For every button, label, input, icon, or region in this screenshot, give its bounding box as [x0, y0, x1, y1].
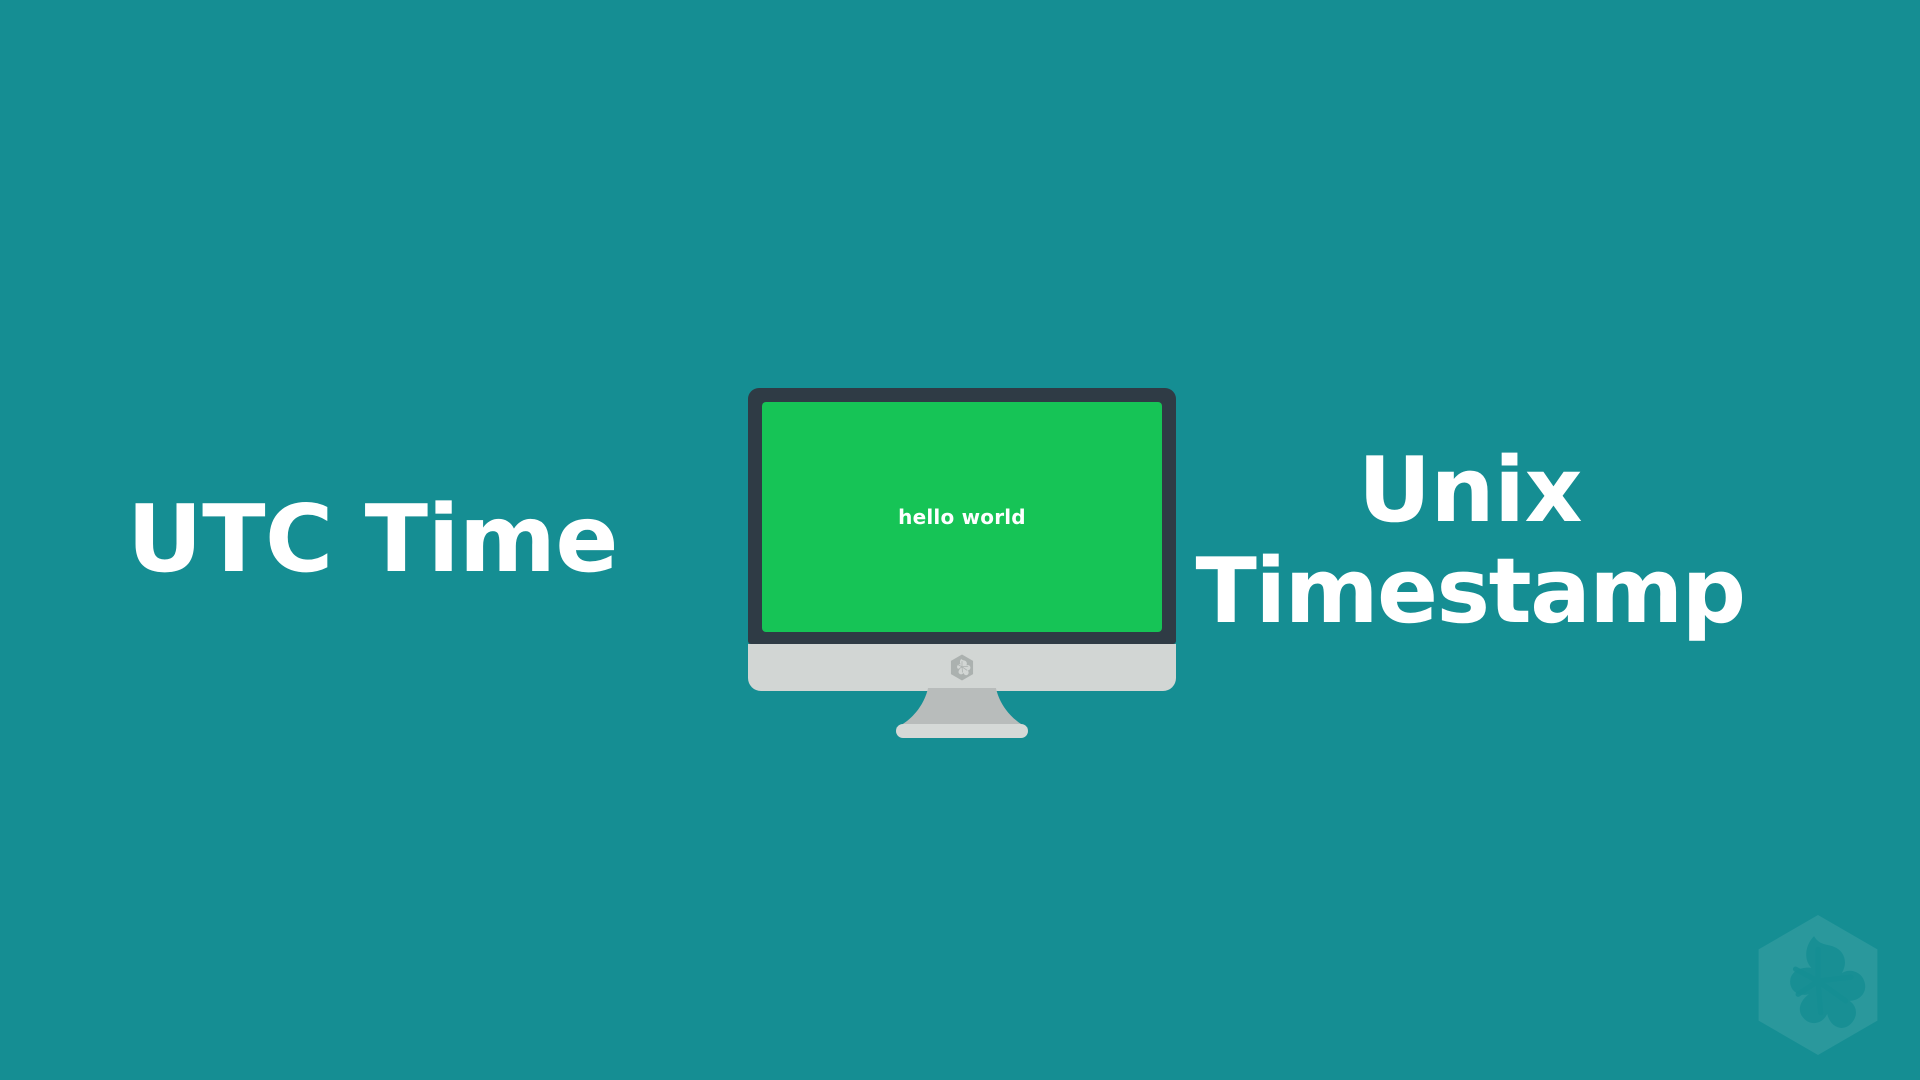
- monitor-bezel: hello world: [748, 388, 1176, 644]
- monitor-stand: [888, 688, 1036, 736]
- unix-timestamp-label: UnixTimestamp: [1180, 440, 1760, 642]
- monitor-chin: [748, 644, 1176, 691]
- screen-hello-world-text: hello world: [898, 505, 1026, 529]
- unix-timestamp-line-1: Unix: [1358, 438, 1582, 543]
- hexagon-splat-logo-icon: [949, 654, 976, 681]
- stand-foot: [896, 724, 1028, 738]
- computer-monitor-illustration: hello world: [748, 388, 1176, 691]
- monitor-screen: hello world: [762, 402, 1162, 632]
- unix-timestamp-line-2: Timestamp: [1180, 541, 1760, 642]
- watermark-hexagon-splat-logo-icon: [1752, 912, 1884, 1058]
- utc-time-label: UTC Time: [0, 487, 745, 591]
- slide-canvas: UTC Time UnixTimestamp hello world: [0, 0, 1920, 1080]
